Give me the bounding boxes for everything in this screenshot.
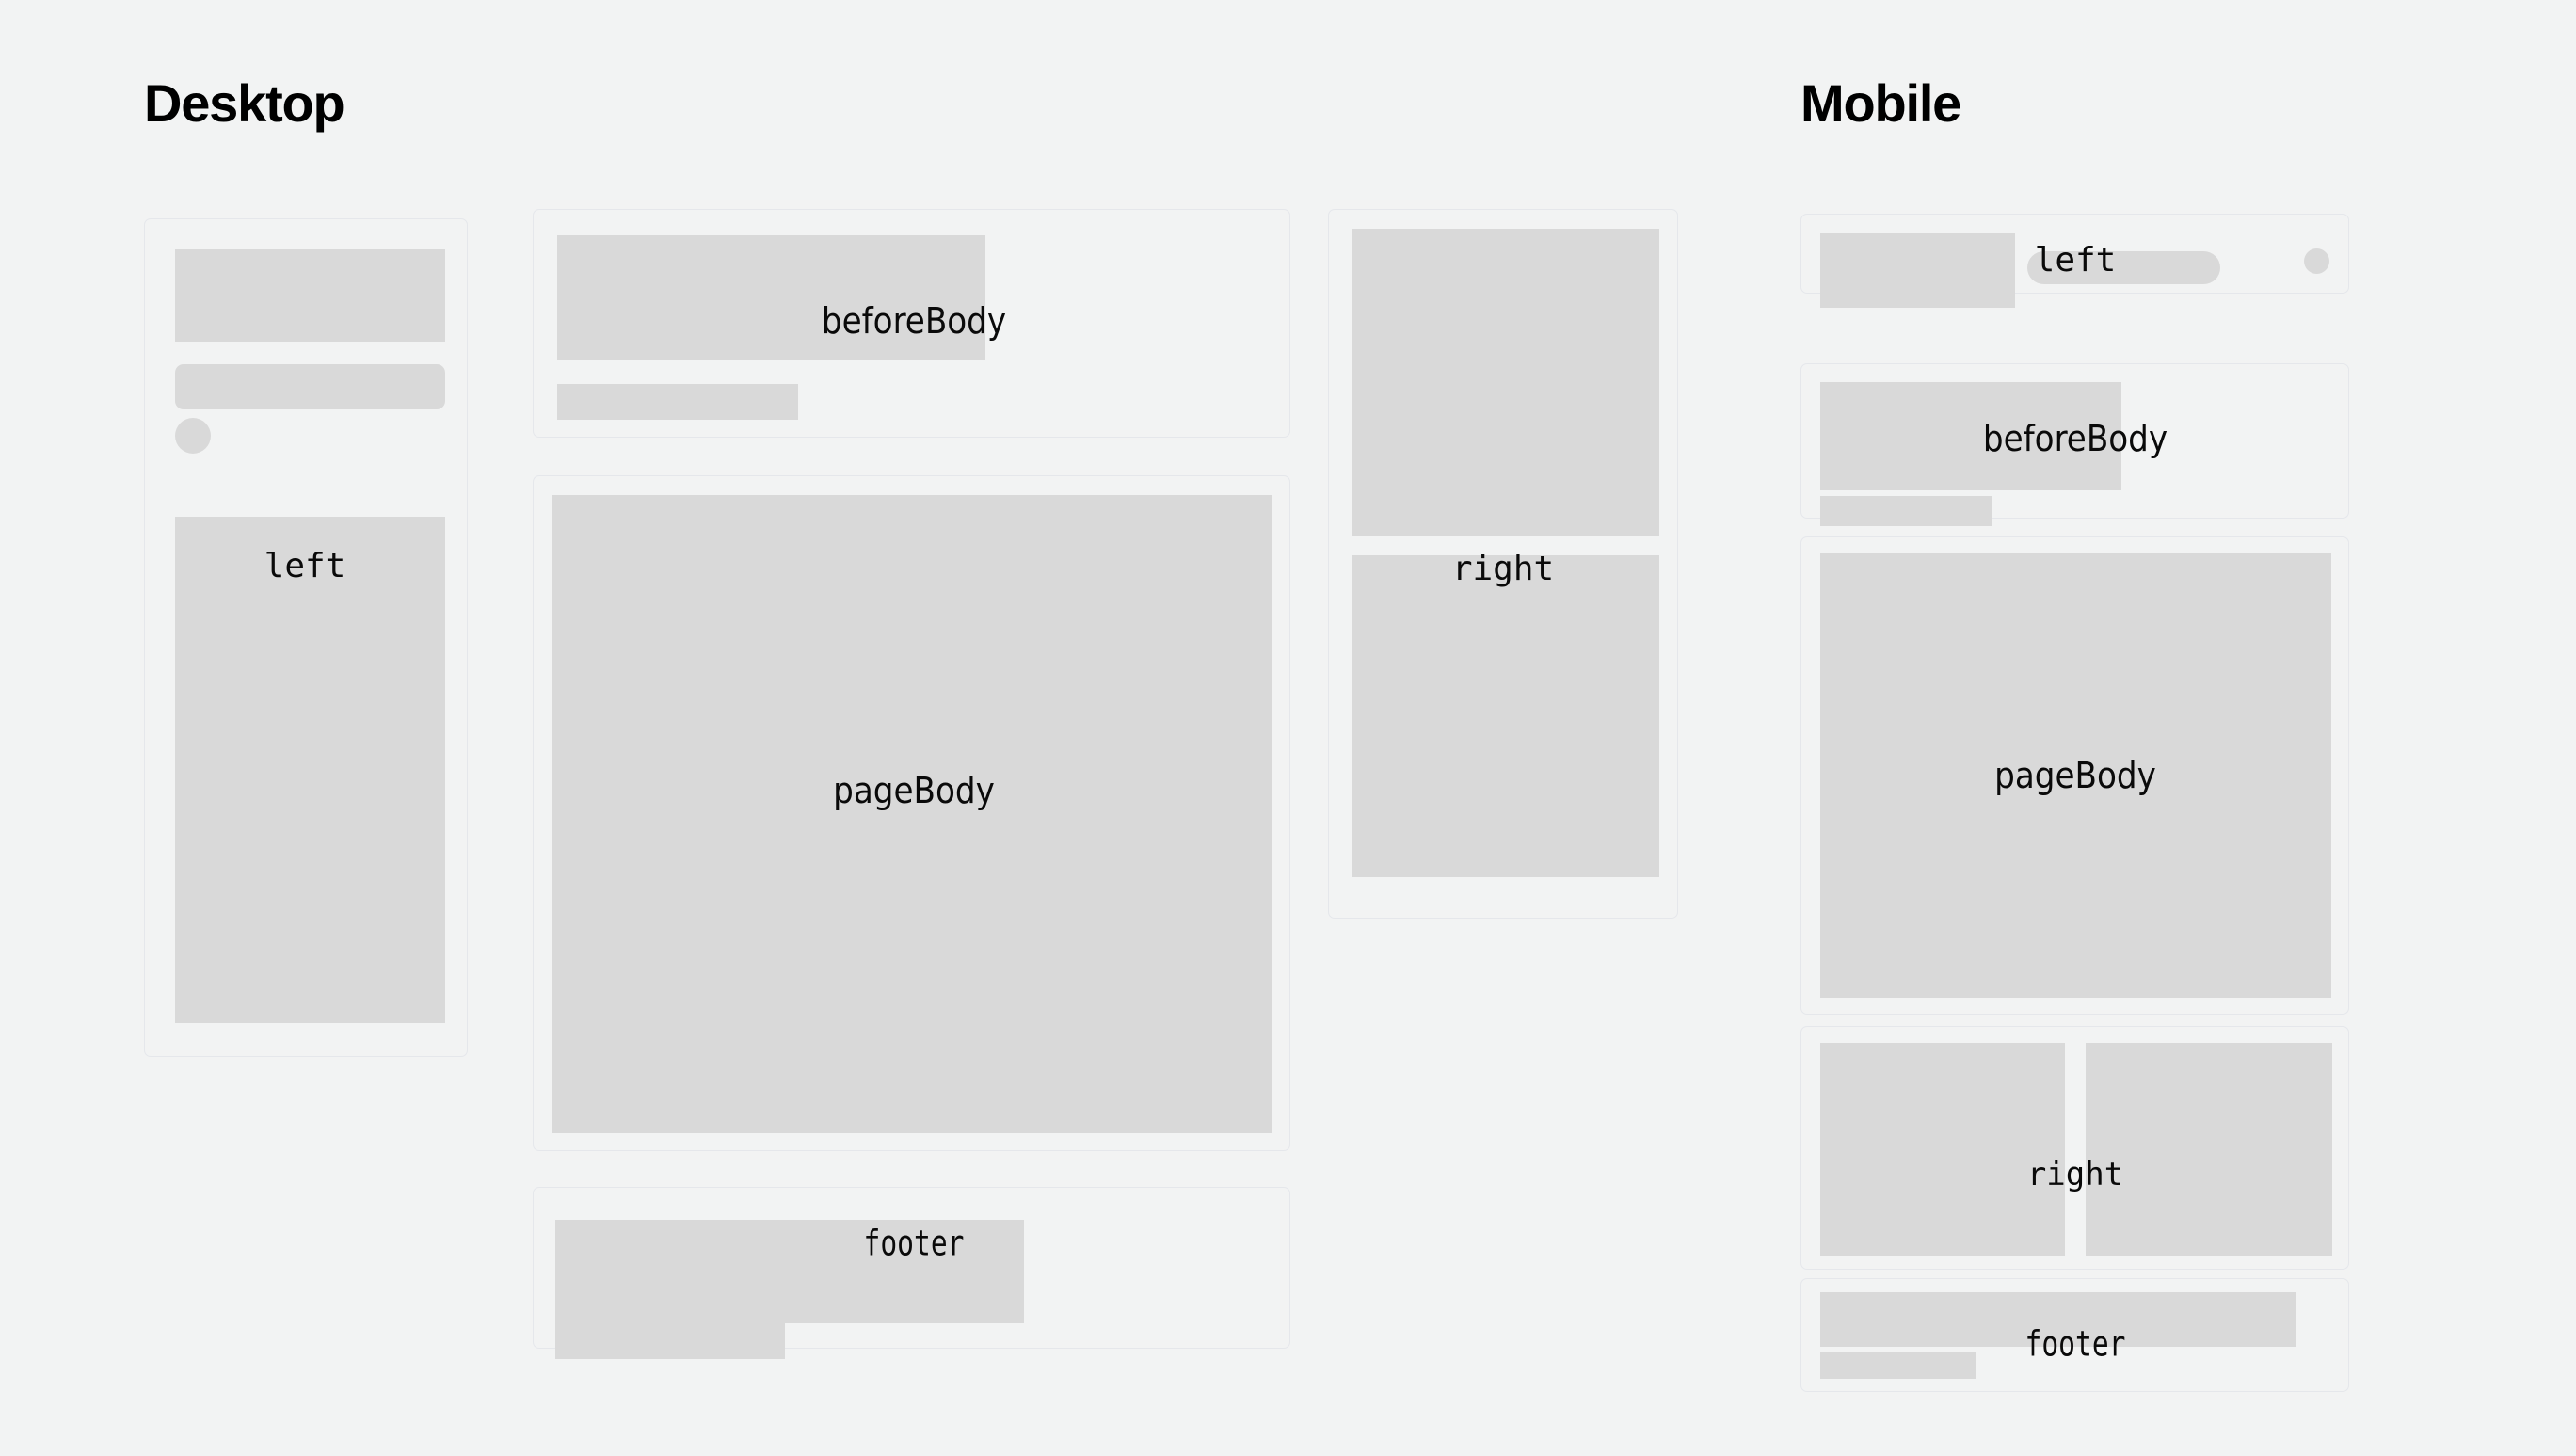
- skeleton-bar: [557, 384, 798, 420]
- skeleton-bar: [1820, 1352, 1976, 1379]
- skeleton-bar: [555, 1220, 1024, 1323]
- layout-preview-stage: Desktop left beforeBody pageBody footer …: [0, 0, 2576, 1456]
- desktop-beforebody-card[interactable]: [533, 209, 1290, 438]
- desktop-right-panel[interactable]: [1328, 209, 1678, 919]
- skeleton-avatar-mobile-left: [2304, 248, 2329, 274]
- desktop-footer-card[interactable]: [533, 1187, 1290, 1349]
- skeleton-block: [175, 249, 445, 342]
- skeleton-pill: [2027, 251, 2220, 284]
- page-title-mobile: Mobile: [1800, 77, 1960, 130]
- skeleton-block: [552, 495, 1272, 1133]
- skeleton-block: [1352, 555, 1659, 877]
- skeleton-block: [1820, 553, 2331, 998]
- skeleton-block: [175, 517, 445, 1023]
- mobile-right-card[interactable]: [1800, 1026, 2349, 1270]
- mobile-pagebody-card[interactable]: [1800, 536, 2349, 1015]
- skeleton-block: [1820, 382, 2121, 490]
- skeleton-block: [2086, 1043, 2332, 1256]
- page-title-desktop: Desktop: [144, 77, 344, 130]
- mobile-footer-card[interactable]: [1800, 1278, 2349, 1392]
- skeleton-bar: [1820, 1292, 2296, 1347]
- skeleton-block: [1820, 1043, 2065, 1256]
- skeleton-bar: [555, 1310, 785, 1359]
- mobile-left-card[interactable]: [1800, 214, 2349, 294]
- mobile-beforebody-card[interactable]: [1800, 363, 2349, 519]
- skeleton-avatar: [175, 418, 211, 454]
- desktop-pagebody-card[interactable]: [533, 475, 1290, 1151]
- skeleton-bar: [1820, 496, 1992, 526]
- skeleton-block: [1352, 229, 1659, 536]
- skeleton-block: [1820, 233, 2015, 308]
- skeleton-block: [557, 235, 985, 360]
- desktop-left-panel[interactable]: [144, 218, 468, 1057]
- skeleton-bar: [175, 364, 445, 409]
